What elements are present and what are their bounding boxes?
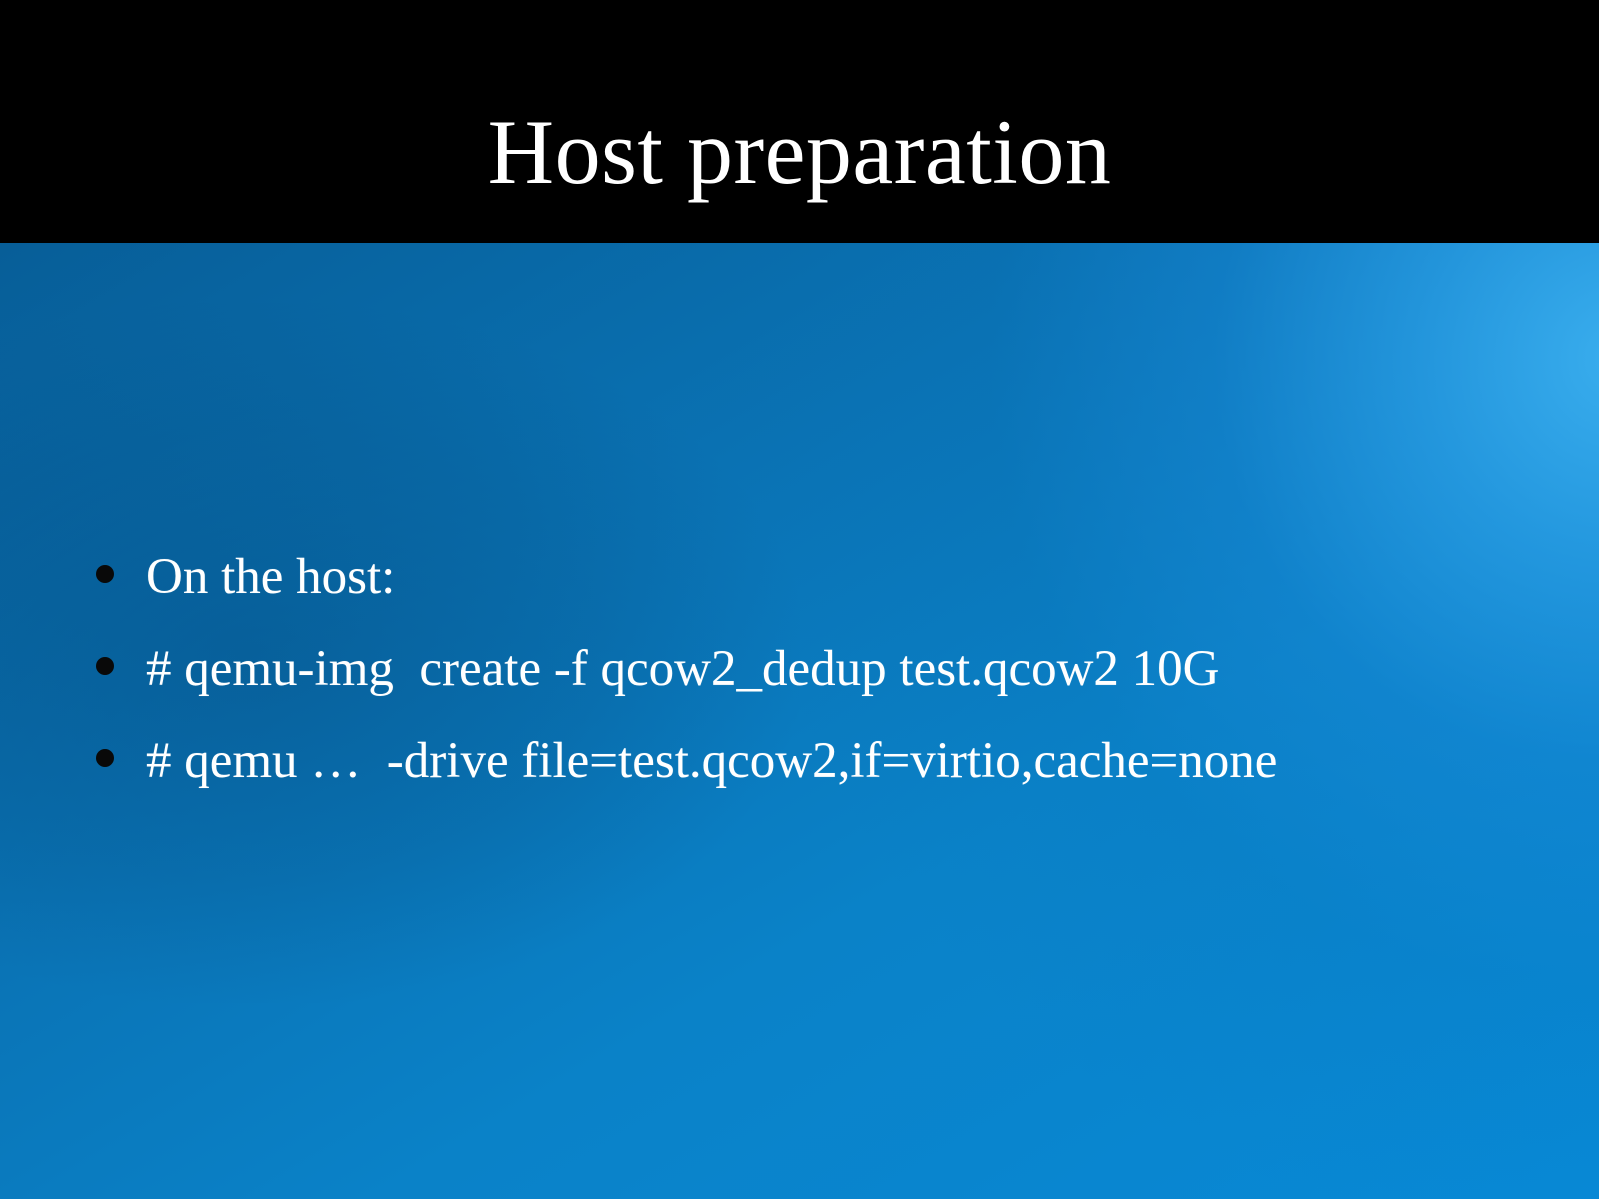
page-title: Host preparation — [0, 62, 1599, 305]
list-item-label: On the host: — [146, 552, 395, 603]
list-item[interactable]: On the host: — [96, 552, 395, 603]
list-item-label: # qemu … -drive file=test.qcow2,if=virti… — [146, 736, 1277, 787]
bullet-dot-icon — [96, 565, 114, 583]
bullet-dot-icon — [96, 657, 114, 675]
bullet-dot-icon — [96, 749, 114, 767]
list-item-label: # qemu-img create -f qcow2_dedup test.qc… — [146, 644, 1220, 695]
presentation-slide: Host preparation On the host: # qemu-img… — [0, 0, 1599, 1199]
title-band: Host preparation — [0, 0, 1599, 243]
list-item[interactable]: # qemu … -drive file=test.qcow2,if=virti… — [96, 736, 1277, 787]
list-item[interactable]: # qemu-img create -f qcow2_dedup test.qc… — [96, 644, 1220, 695]
bullet-list: On the host: # qemu-img create -f qcow2_… — [0, 243, 1599, 1199]
